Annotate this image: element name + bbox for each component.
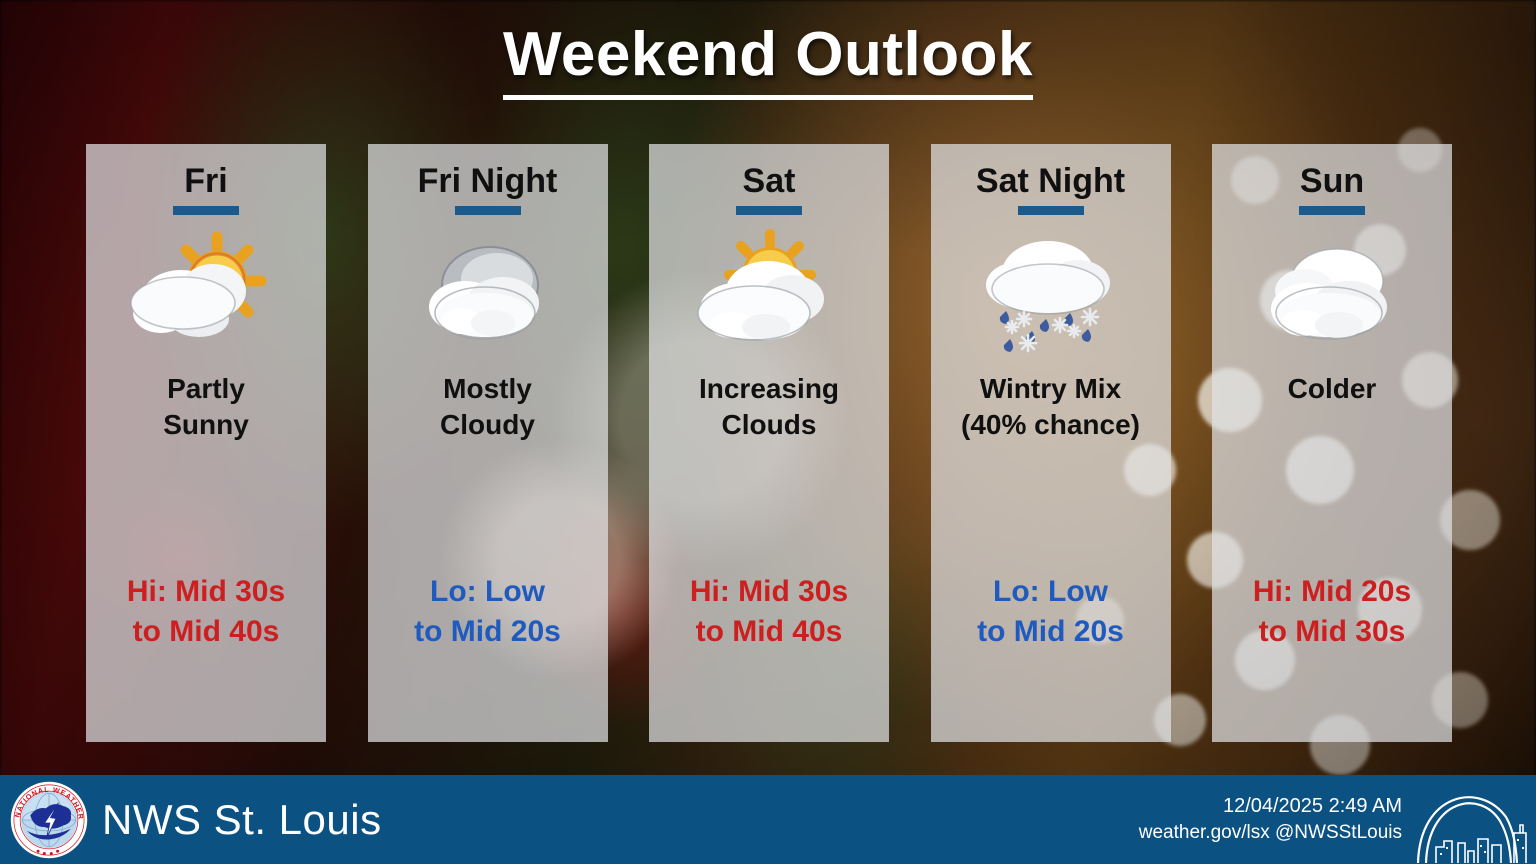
- day-underline: [173, 206, 239, 215]
- condition-text: Wintry Mix (40% chance): [959, 371, 1142, 443]
- weather-graphic: Weekend Outlook Fri: [0, 0, 1536, 864]
- nws-seal-icon: NATIONAL WEATHER SERVICE: [10, 781, 88, 859]
- day-label: Sat Night: [976, 164, 1125, 200]
- footer-text-block: 12/04/2025 2:49 AM weather.gov/lsx @NWSS…: [1139, 793, 1402, 846]
- web-and-social-handles: weather.gov/lsx @NWSStLouis: [1139, 820, 1402, 846]
- title-area: Weekend Outlook: [0, 24, 1536, 100]
- day-underline: [455, 206, 521, 215]
- timestamp: 12/04/2025 2:49 AM: [1139, 793, 1402, 820]
- forecast-panel-fri: Fri: [86, 144, 326, 742]
- temperature-text: Lo: Low to Mid 20s: [931, 572, 1171, 651]
- forecast-panel-fri-night: Fri Night Mostly: [368, 144, 608, 742]
- temperature-text: Hi: Mid 30s to Mid 40s: [86, 572, 326, 651]
- increasing-clouds-icon: [684, 231, 854, 359]
- day-underline: [1299, 206, 1365, 215]
- footer-bar: NATIONAL WEATHER SERVICE NWS St. Louis 1…: [0, 775, 1536, 864]
- partly-sunny-icon: [121, 231, 291, 359]
- forecast-panel-sat: Sat: [649, 144, 889, 742]
- day-label: Fri: [184, 164, 227, 200]
- wintry-mix-icon: [966, 231, 1136, 359]
- temperature-text: Hi: Mid 30s to Mid 40s: [649, 572, 889, 651]
- page-title: Weekend Outlook: [503, 24, 1033, 100]
- condition-text: Colder: [1286, 371, 1379, 407]
- day-label: Sun: [1300, 164, 1364, 200]
- day-underline: [736, 206, 802, 215]
- day-underline: [1018, 206, 1084, 215]
- mostly-cloudy-icon: [403, 231, 573, 359]
- forecast-panel-row: Fri: [86, 144, 1452, 742]
- temperature-text: Lo: Low to Mid 20s: [368, 572, 608, 651]
- footer-left-group: NATIONAL WEATHER SERVICE NWS St. Louis: [10, 781, 382, 859]
- temperature-text: Hi: Mid 20s to Mid 30s: [1212, 572, 1452, 651]
- day-label: Fri Night: [418, 164, 558, 200]
- condition-text: Mostly Cloudy: [438, 371, 537, 443]
- cloudy-icon: [1247, 231, 1417, 359]
- day-label: Sat: [743, 164, 796, 200]
- gateway-arch-skyline-icon: [1410, 777, 1530, 863]
- condition-text: Increasing Clouds: [697, 371, 841, 443]
- condition-text: Partly Sunny: [161, 371, 251, 443]
- forecast-panel-sat-night: Sat Night: [931, 144, 1171, 742]
- forecast-panel-sun: Sun Colder: [1212, 144, 1452, 742]
- office-name: NWS St. Louis: [102, 796, 382, 844]
- footer-right-group: 12/04/2025 2:49 AM weather.gov/lsx @NWSS…: [1139, 777, 1530, 863]
